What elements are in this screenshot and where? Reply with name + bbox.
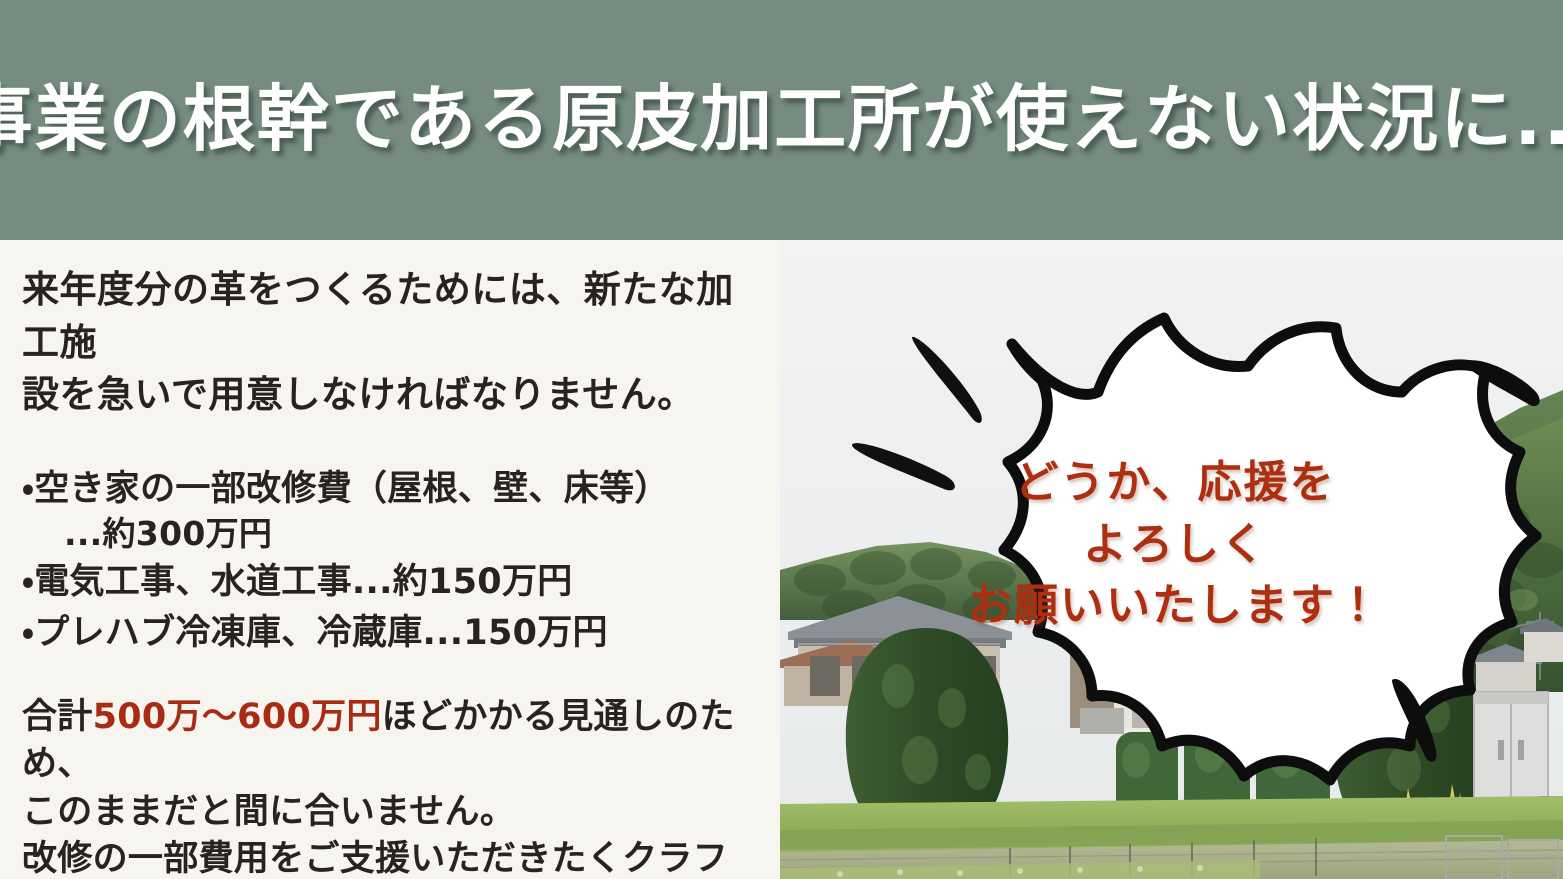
lead-line-2: 設を急いで用意しなければなりません。 bbox=[22, 373, 695, 416]
summary-line-1: 合計500万〜600万円ほどかかる見通しのため、 bbox=[22, 694, 750, 789]
list-item: ・プレハブ冷凍庫、冷蔵庫...150万円 bbox=[22, 610, 750, 656]
bullet-marker: ・ bbox=[22, 562, 34, 602]
bullet-marker: ・ bbox=[22, 613, 34, 653]
bullet-text: 空き家の一部改修費（屋根、壁、床等） bbox=[34, 469, 669, 509]
summary-block: 合計500万〜600万円ほどかかる見通しのため、 このままだと間に合いません。 … bbox=[22, 694, 750, 879]
lead-line-1: 来年度分の革をつくるためには、新たな加工施 bbox=[22, 268, 734, 364]
left-text-panel: 来年度分の革をつくるためには、新たな加工施 設を急いで用意しなければなりません。… bbox=[0, 240, 780, 879]
summary-line-3: 改修の一部費用をご支援いただきたくクラファ bbox=[22, 836, 750, 879]
bullet-text: プレハブ冷凍庫、冷蔵庫...150万円 bbox=[34, 613, 608, 653]
photo-illustration bbox=[780, 240, 1563, 879]
bullet-text: 電気工事、水道工事...約150万円 bbox=[34, 562, 572, 602]
summary-line-2: このままだと間に合いません。 bbox=[22, 789, 750, 837]
list-item: ・空き家の一部改修費（屋根、壁、床等） ...約300万円 bbox=[22, 466, 750, 556]
lead-paragraph: 来年度分の革をつくるためには、新たな加工施 設を急いで用意しなければなりません。 bbox=[22, 264, 750, 422]
bullet-marker: ・ bbox=[22, 469, 34, 509]
bullet-subtext: ...約300万円 bbox=[22, 512, 750, 556]
list-item: ・電気工事、水道工事...約150万円 bbox=[22, 559, 750, 605]
header-band: 事業の根幹である原皮加工所が使えない状況に... bbox=[0, 0, 1563, 240]
summary-amount: 500万〜600万円 bbox=[93, 697, 382, 737]
summary-prefix: 合計 bbox=[22, 697, 93, 737]
poster-root: 事業の根幹である原皮加工所が使えない状況に... 来年度分の革をつくるためには、… bbox=[0, 0, 1563, 879]
village-photo bbox=[780, 240, 1563, 879]
cost-bullet-list: ・空き家の一部改修費（屋根、壁、床等） ...約300万円 ・電気工事、水道工事… bbox=[22, 466, 750, 656]
page-title: 事業の根幹である原皮加工所が使えない状況に... bbox=[0, 80, 1563, 159]
